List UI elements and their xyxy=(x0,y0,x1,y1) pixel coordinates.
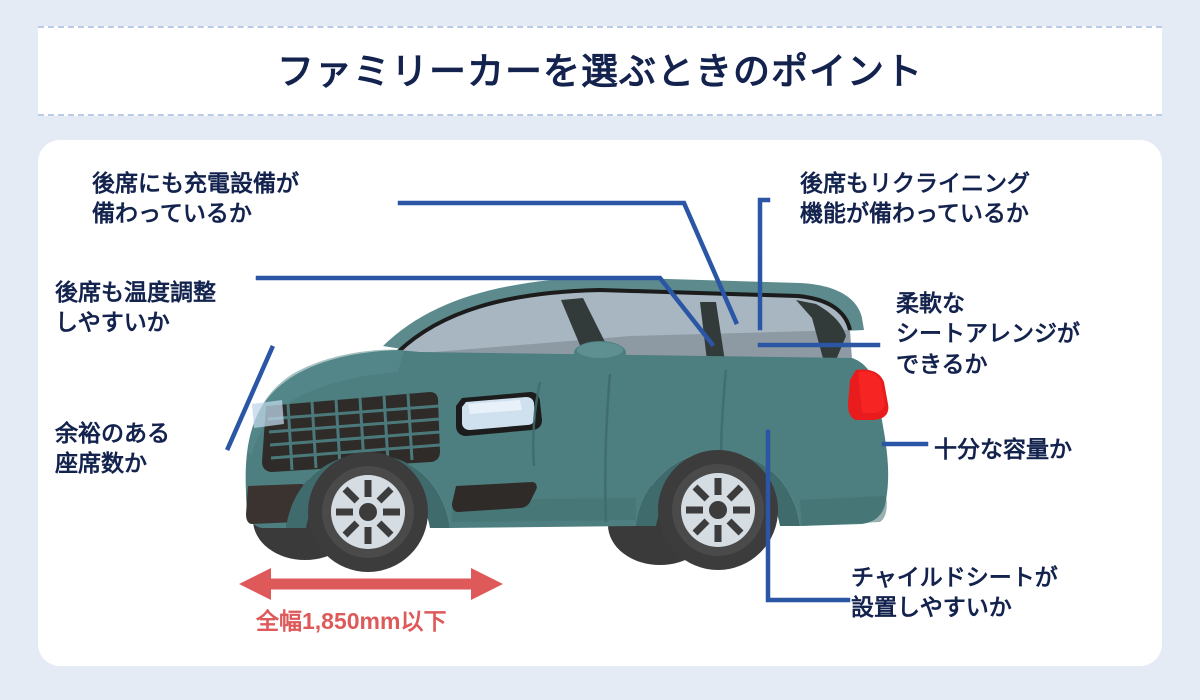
car-corner-light xyxy=(252,400,284,428)
label-rear-climate: 後席も温度調整 しやすいか xyxy=(55,277,216,338)
label-seat-count: 余裕のある 座席数か xyxy=(55,418,170,479)
infographic-root: ファミリーカーを選ぶときのポイント xyxy=(0,0,1200,700)
label-rear-charging: 後席にも充電設備が 備わっているか xyxy=(92,168,299,229)
car-illustration xyxy=(230,277,890,572)
car-rear-wheel xyxy=(658,450,778,570)
label-rear-reclining: 後席もリクライニング 機能が備わっているか xyxy=(800,168,1030,229)
car-front-wheel xyxy=(308,452,428,572)
width-measure-label: 全幅1,850mm以下 xyxy=(256,602,446,636)
label-seat-arrangement: 柔軟な シートアレンジが できるか xyxy=(896,288,1080,379)
label-child-seat: チャイルドシートが 設置しやすいか xyxy=(851,562,1058,623)
label-cargo-capacity: 十分な容量か xyxy=(934,434,1072,464)
width-measure-arrow xyxy=(239,568,503,600)
